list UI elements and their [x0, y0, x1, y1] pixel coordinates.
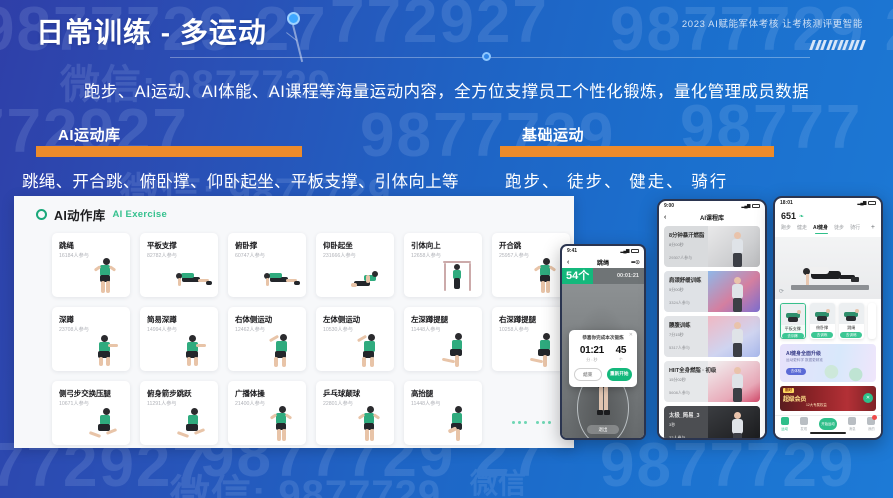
- exercise-figure: [262, 255, 302, 295]
- exit-button[interactable]: 退出: [587, 425, 619, 434]
- exercise-card[interactable]: 引体向上12658人参与: [404, 233, 482, 297]
- course-joined: 5317人参与: [669, 345, 691, 351]
- exercise-shortcut-name: 平板支撑: [781, 326, 805, 332]
- exercise-card-count: 11448人参与: [411, 326, 441, 333]
- exercise-card[interactable]: 右体侧运动12462人参与: [228, 307, 306, 371]
- exercise-card-name: 仰卧起坐: [323, 240, 353, 251]
- exercise-card[interactable]: 左体侧运动10530人参与: [316, 307, 394, 371]
- exercise-card-name: 深蹲: [59, 314, 74, 325]
- course-thumbnail: [708, 226, 760, 267]
- exercise-figure: [438, 255, 478, 295]
- exercise-mini-figure: [786, 307, 800, 323]
- tabbar-item-compass-icon[interactable]: 发现: [800, 417, 808, 431]
- phone-mockup-fitness-home: 18:01 ▂▄▆ 651 ❧ 跑步健走AI健身徒步骑行+ ⟳ 平板支撑去训练俯…: [773, 196, 883, 440]
- exercise-card[interactable]: 平板支撑82782人参与: [140, 233, 218, 297]
- course-name: HIIT全身燃脂 · 初级: [669, 366, 716, 374]
- status-time: 18:01: [780, 200, 793, 206]
- dialog-time-unit: 分 : 秒: [580, 357, 604, 363]
- slide-root: 9877729 27 772927 9877729 27 微信: 9877729…: [0, 0, 893, 498]
- status-icons: ▂▄▆: [857, 200, 876, 206]
- tab-underline: [815, 233, 828, 234]
- notification-badge: [872, 415, 877, 420]
- exercise-figure: [438, 403, 478, 443]
- exercise-card-name: 俯卧撑: [235, 240, 257, 251]
- exercise-card-name: 平板支撑: [147, 240, 177, 251]
- activity-tab-2[interactable]: AI健身: [813, 224, 828, 231]
- tabbar-item-run-icon[interactable]: 运动: [781, 417, 789, 431]
- dialog-count-unit: 个: [616, 357, 627, 363]
- exercise-figure: [262, 403, 302, 443]
- status-bar: 18:01 ▂▄▆: [775, 198, 881, 208]
- tabbar-label: 我的: [867, 426, 875, 431]
- exercise-card-name: 左体侧运动: [323, 314, 360, 325]
- completion-dialog: ✕ 恭喜你完成本次锻炼 01:21 分 : 秒 45 个 结束 重新开始: [569, 330, 637, 387]
- section-list-basic-sports: 跑步、 徒步、 健走、 骑行: [505, 168, 728, 192]
- page-subtitle: 跑步、AI运动、AI体能、AI课程等海量运动内容，全方位支撑员工个性化锻炼，量化…: [0, 78, 893, 102]
- dialog-buttons: 结束 重新开始: [574, 368, 632, 381]
- tabbar-item-message-icon[interactable]: 消息: [848, 417, 856, 431]
- close-circle-icon[interactable]: ✕: [863, 393, 873, 403]
- tabbar-label: 发现: [800, 426, 808, 431]
- exercise-shortcut-partial[interactable]: [868, 303, 876, 339]
- course-list[interactable]: 8分钟暴汗燃脂8分00秒29307人参与肩颈舒缓训练5分00秒3324人参与腰腹…: [659, 223, 765, 440]
- exercise-shortcut[interactable]: 跳绳去训练: [839, 303, 864, 339]
- exercise-card[interactable]: 广播体操21400人参与: [228, 381, 306, 445]
- dot-decoration-icon: [482, 52, 491, 61]
- course-card[interactable]: 8分钟暴汗燃脂8分00秒29307人参与: [664, 226, 760, 267]
- exercise-card[interactable]: 开合跳25957人参与: [492, 233, 570, 297]
- leaf-icon: ❧: [799, 213, 804, 220]
- ad-subtitle: 12大专属权益: [806, 402, 827, 407]
- step-count: 651: [781, 211, 796, 221]
- exercise-card[interactable]: 简易深蹲14994人参与: [140, 307, 218, 371]
- exercise-library-panel: AI动作库 AI Exercise 跳绳16184人参与 平板支撑82782人参…: [14, 196, 574, 448]
- exercise-train-button[interactable]: 去训练: [811, 332, 833, 338]
- exercise-figure: [350, 403, 390, 443]
- exercise-train-button[interactable]: 去训练: [782, 333, 804, 339]
- exercise-thumbnail: [810, 303, 835, 324]
- home-indicator: [810, 432, 846, 434]
- exercise-card-name: 广播体操: [235, 388, 265, 399]
- exercise-mini-figure: [844, 306, 858, 322]
- rep-count: 54个: [562, 268, 593, 284]
- status-bar: 9:41 ▂▄▆: [562, 246, 644, 256]
- ad-tag: 限时: [783, 388, 794, 393]
- status-icons: ▂▄▆: [741, 203, 760, 209]
- course-person-figure: [728, 231, 748, 267]
- exercise-thumbnail: [839, 303, 864, 324]
- exercise-card-count: 14994人参与: [147, 326, 177, 333]
- ad-caption: 超级会员: [783, 394, 806, 403]
- panel-header: AI动作库 AI Exercise: [14, 196, 574, 229]
- exercise-figure: [86, 255, 126, 295]
- activity-tab-4[interactable]: 骑行: [850, 224, 860, 231]
- watermark-text: 772927: [330, 0, 549, 57]
- exercise-card-name: 高抬腿: [411, 388, 433, 399]
- course-name: 8分钟暴汗燃脂: [669, 231, 704, 239]
- exercise-figure: [86, 403, 126, 443]
- more-dots-icon[interactable]: ••• ⊙: [631, 259, 639, 266]
- section-label: 基础运动: [500, 124, 774, 145]
- nav-title: 跳绳: [597, 258, 609, 267]
- tabbar-label: 运动: [781, 426, 789, 431]
- exercise-card[interactable]: 仰卧起坐231666人参与: [316, 233, 394, 297]
- finish-button[interactable]: 结束: [574, 368, 602, 381]
- more-dots-icon[interactable]: [492, 403, 570, 424]
- section-list-ai-library: 跳绳、开合跳、俯卧撑、仰卧起坐、平板支撑、引体向上等: [22, 168, 459, 192]
- exercise-card-grid: 跳绳16184人参与 平板支撑82782人参与 俯卧撑60747人参与 仰卧起坐…: [14, 229, 574, 445]
- exercise-mini-figure: [815, 306, 829, 322]
- course-name: 腰腹训练: [669, 321, 691, 329]
- watermark-text: 微信: 9877729: [170, 462, 441, 498]
- exercise-card-count: 11448人参与: [411, 400, 441, 407]
- chevron-left-icon[interactable]: ‹: [567, 259, 569, 266]
- rotate-icon[interactable]: ⟳: [779, 288, 784, 295]
- run-icon: [781, 417, 789, 425]
- stripes-decoration-icon: [682, 40, 863, 50]
- exercise-shortcut-row: 平板支撑去训练俯卧撑去训练跳绳去训练: [775, 299, 881, 339]
- page-title: 日常训练 - 多运动: [36, 17, 267, 49]
- ad-banner[interactable]: 限时 超级会员 12大专属权益 ✕: [780, 386, 876, 411]
- start-workout-button[interactable]: 开始运动: [819, 418, 837, 430]
- exercise-card-count: 10258人参与: [499, 326, 529, 333]
- exercise-card[interactable]: 跳绳16184人参与: [52, 233, 130, 297]
- tabbar-label: 消息: [848, 426, 856, 431]
- workout-camera-view: 54个 00:01:21 ✕ 恭喜你完成本次锻炼 01:21 分 : 秒 45 …: [562, 268, 644, 440]
- phone-mockup-jumprope: 9:41 ▂▄▆ ‹ 跳绳 ••• ⊙ 54个 00:01:21 ✕ 恭喜你完成: [560, 244, 646, 440]
- pin-decoration-icon: [282, 12, 342, 64]
- message-icon: [848, 417, 856, 425]
- activity-tab-3[interactable]: 徒步: [834, 224, 844, 231]
- exercise-train-button[interactable]: 去训练: [840, 332, 862, 338]
- exercise-card-count: 23708人参与: [59, 326, 89, 333]
- exercise-figure: [262, 329, 302, 369]
- course-person-figure: [728, 321, 748, 357]
- exercise-card[interactable]: 高抬腿11448人参与: [404, 381, 482, 445]
- exercise-figure: [350, 329, 390, 369]
- exercise-card[interactable]: 俯身箭步跳跃11291人参与: [140, 381, 218, 445]
- exercise-card-name: 乒乓球颠球: [323, 388, 360, 399]
- course-person-figure: [728, 276, 748, 312]
- restart-button[interactable]: 重新开始: [607, 368, 633, 381]
- exercise-card-name: 俯身箭步跳跃: [147, 388, 191, 399]
- exercise-card-name: 右体侧运动: [235, 314, 272, 325]
- plank-figure: [801, 266, 859, 286]
- section-header-basic-sports: 基础运动: [500, 124, 774, 145]
- course-name: 肩颈舒缓训练: [669, 276, 701, 284]
- section-label: AI运动库: [36, 124, 302, 145]
- dialog-title: 恭喜你完成本次锻炼: [574, 335, 632, 341]
- exercise-thumbnail: [781, 304, 805, 325]
- exercise-figure: [438, 329, 478, 369]
- nav-title: AI课程库: [700, 213, 724, 222]
- tabbar-item-start-icon[interactable]: 开始运动: [819, 418, 837, 430]
- activity-tabs[interactable]: 跑步健走AI健身徒步骑行+: [775, 223, 881, 231]
- exercise-card-count: 12462人参与: [235, 326, 265, 333]
- exercise-card[interactable]: 左深蹲提腿11448人参与: [404, 307, 482, 371]
- tabbar-item-user-icon[interactable]: 我的: [867, 417, 875, 431]
- course-duration: 5分00秒: [669, 287, 701, 293]
- elapsed-time: 00:01:21: [617, 273, 639, 279]
- exercise-card-count: 25957人参与: [499, 252, 529, 259]
- course-card[interactable]: HIIT全身燃脂 · 初级15分02秒5608人参与: [664, 361, 760, 402]
- dialog-count-value: 45: [616, 345, 627, 356]
- fitness-home-body: 651 ❧ 跑步健走AI健身徒步骑行+ ⟳ 平板支撑去训练俯卧撑去训练跳绳去训练…: [775, 208, 881, 436]
- step-counter[interactable]: 651 ❧: [775, 208, 881, 223]
- panel-subtitle: AI Exercise: [113, 209, 168, 220]
- exercise-card[interactable]: 乒乓球颠球22801人参与: [316, 381, 394, 445]
- exercise-card-count: 10530人参与: [323, 326, 353, 333]
- exercise-card-name: 右深蹲提腿: [499, 314, 536, 325]
- nav-bar: ‹ AI课程库: [659, 211, 765, 223]
- exercise-card-count: 10671人参与: [59, 400, 89, 407]
- exercise-card-count: 11291人参与: [147, 400, 177, 407]
- exercise-card-name: 侧弓步交换压腿: [59, 388, 111, 399]
- exercise-shortcut-name: 俯卧撑: [810, 325, 835, 331]
- page-title-text: 日常训练 - 多运动: [36, 17, 267, 49]
- exercise-shortcut[interactable]: 俯卧撑去训练: [810, 303, 835, 339]
- dialog-time-stat: 01:21 分 : 秒: [580, 345, 604, 363]
- nav-bar: ‹ 跳绳 ••• ⊙: [562, 256, 644, 268]
- exercise-card-name: 左深蹲提腿: [411, 314, 448, 325]
- exercise-figure: [174, 255, 214, 295]
- exercise-card[interactable]: 俯卧撑60747人参与: [228, 233, 306, 297]
- status-time: 9:00: [664, 203, 674, 209]
- bottom-tab-bar: 运动发现开始运动消息我的: [775, 415, 881, 431]
- exercise-card-name: 引体向上: [411, 240, 441, 251]
- status-bar: 9:00 ▂▄▆: [659, 201, 765, 211]
- course-joined: 5608人参与: [669, 390, 716, 396]
- course-thumbnail: [708, 271, 760, 312]
- course-thumbnail: [708, 406, 760, 440]
- compass-icon: [800, 417, 808, 425]
- course-joined: 29307人参与: [669, 255, 704, 261]
- exercise-card-count: 22801人参与: [323, 400, 353, 407]
- promo-banner[interactable]: AI健身全面升级 运动更科学 数据更精准 去体验: [780, 344, 876, 382]
- course-joined: 22人参与: [669, 435, 700, 440]
- course-duration: 3秒: [669, 422, 700, 428]
- course-name: 太极_简易_3: [669, 411, 700, 419]
- exercise-card-count: 60747人参与: [235, 252, 265, 259]
- hero-preview[interactable]: ⟳: [775, 237, 881, 299]
- plus-icon[interactable]: +: [871, 224, 875, 231]
- phone-mockup-course-library: 9:00 ▂▄▆ ‹ AI课程库 8分钟暴汗燃脂8分00秒29307人参与肩颈舒…: [657, 199, 767, 440]
- section-header-ai-library: AI运动库: [36, 124, 302, 145]
- exercise-card-name: 跳绳: [59, 240, 74, 251]
- exercise-figure: [174, 329, 214, 369]
- exercise-figure: [350, 255, 390, 295]
- exercise-shortcut-name: 跳绳: [839, 325, 864, 331]
- exercise-card-name: 简易深蹲: [147, 314, 177, 325]
- watermark-text: 9877729: [600, 430, 855, 498]
- activity-tab-1[interactable]: 健走: [797, 224, 807, 231]
- dialog-count-stat: 45 个: [616, 345, 627, 363]
- course-card[interactable]: 腰腹训练7分15秒5317人参与: [664, 316, 760, 357]
- exercise-card-count: 16184人参与: [59, 252, 89, 259]
- header-tagline: 2023 AI赋能军体考核 让考核测评更智能: [682, 16, 863, 50]
- exercise-card[interactable]: 深蹲23708人参与: [52, 307, 130, 371]
- watermark-text: 微信: [470, 462, 526, 498]
- exercise-card-count: 12658人参与: [411, 252, 441, 259]
- course-thumbnail: [708, 316, 760, 357]
- course-joined: 3324人参与: [669, 300, 701, 306]
- circle-outline-icon: [36, 209, 47, 220]
- promo-illustration: [814, 348, 872, 382]
- workout-stats: 54个 00:01:21: [562, 268, 644, 284]
- course-person-figure: [728, 366, 748, 402]
- header-tagline-text: 2023 AI赋能军体考核 让考核测评更智能: [682, 16, 863, 30]
- activity-tab-0[interactable]: 跑步: [781, 224, 791, 231]
- exercise-card[interactable]: 侧弓步交换压腿10671人参与: [52, 381, 130, 445]
- dialog-time-value: 01:21: [580, 345, 604, 356]
- course-person-figure: [728, 411, 748, 440]
- section-underline: [36, 146, 302, 157]
- close-icon[interactable]: ✕: [629, 332, 633, 338]
- exercise-figure: [86, 329, 126, 369]
- chevron-left-icon[interactable]: ‹: [664, 214, 666, 221]
- course-duration: 8分00秒: [669, 242, 704, 248]
- exercise-card-count: 21400人参与: [235, 400, 265, 407]
- exercise-figure: [174, 403, 214, 443]
- course-card[interactable]: 肩颈舒缓训练5分00秒3324人参与: [664, 271, 760, 312]
- status-icons: ▂▄▆: [620, 248, 639, 254]
- exercise-card-count: 82782人参与: [147, 252, 177, 259]
- promo-button[interactable]: 去体验: [786, 368, 806, 375]
- section-underline: [500, 146, 774, 157]
- status-time: 9:41: [567, 248, 577, 254]
- course-duration: 7分15秒: [669, 332, 691, 338]
- dialog-stats: 01:21 分 : 秒 45 个: [574, 345, 632, 363]
- exercise-card[interactable]: 右深蹲提腿10258人参与: [492, 307, 570, 371]
- exercise-card-name: 开合跳: [499, 240, 521, 251]
- panel-title: AI动作库: [54, 205, 106, 224]
- exercise-shortcut[interactable]: 平板支撑去训练: [780, 303, 806, 339]
- course-card[interactable]: 太极_简易_33秒22人参与: [664, 406, 760, 440]
- course-duration: 15分02秒: [669, 377, 716, 383]
